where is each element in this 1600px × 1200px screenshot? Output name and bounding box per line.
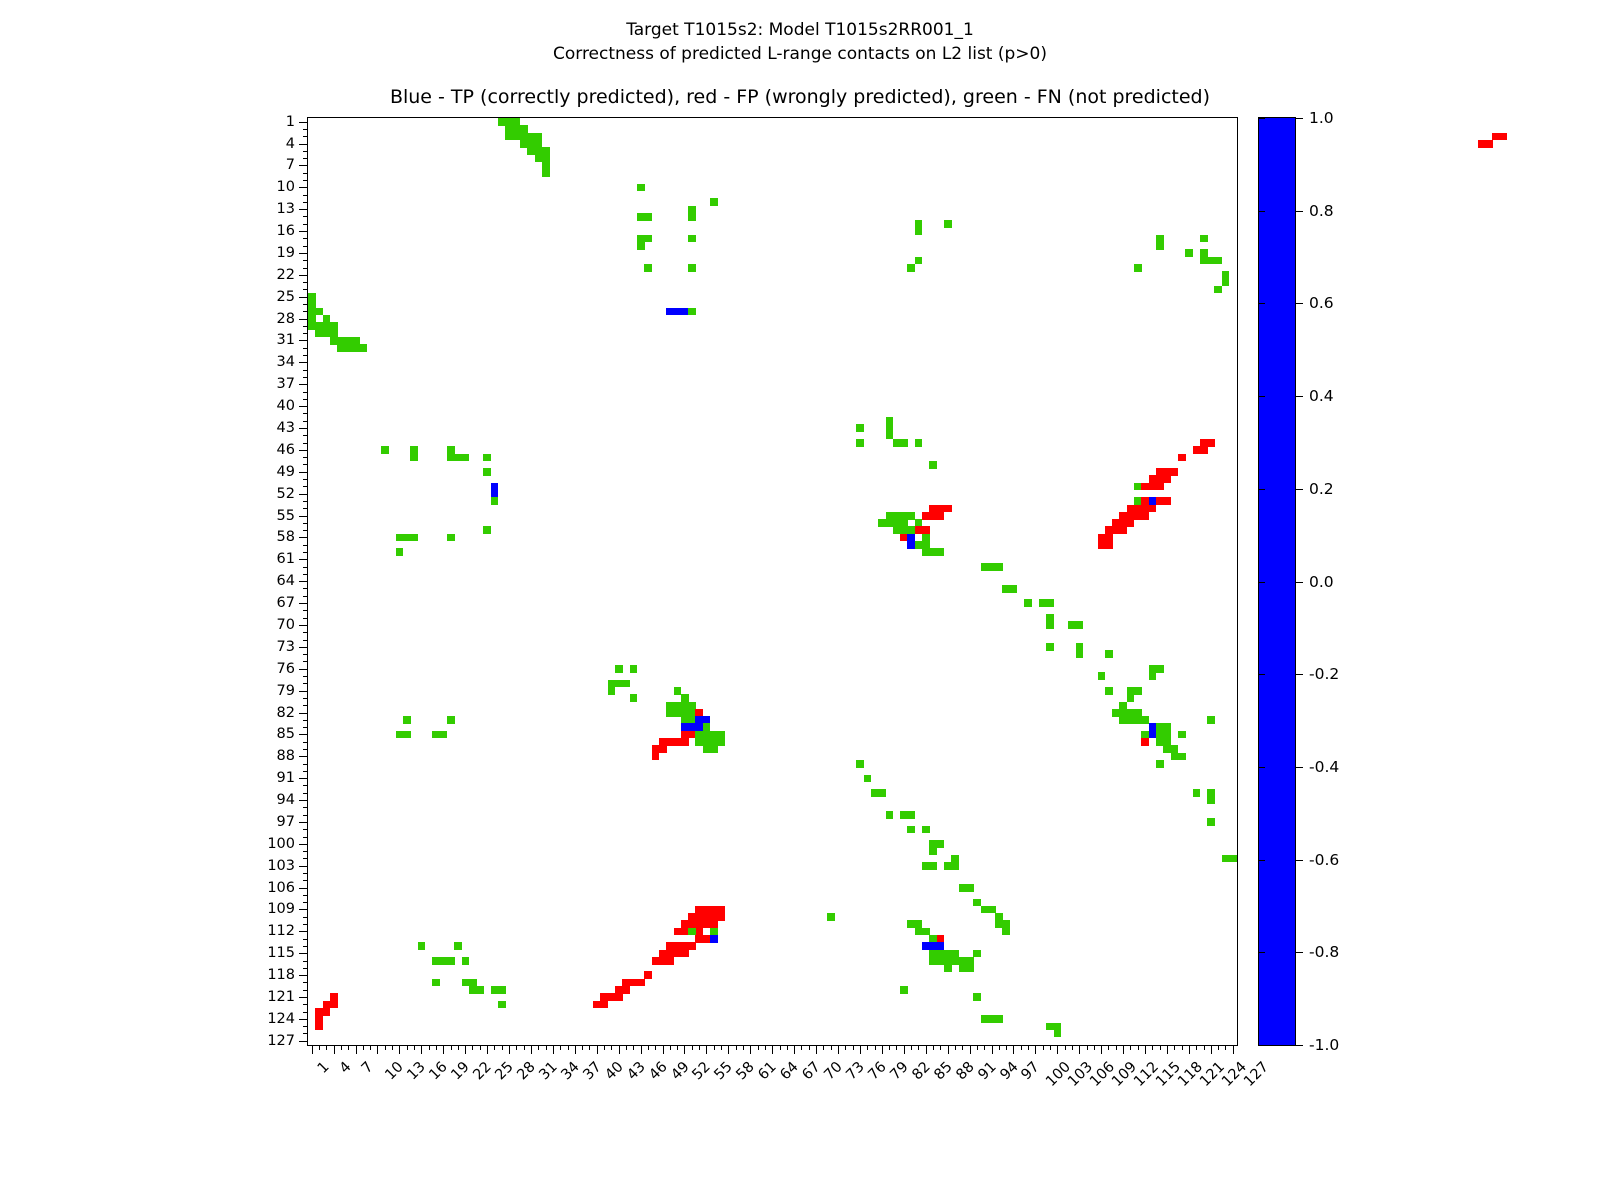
colorbar-tick-label: 1.0 (1309, 109, 1334, 127)
x-tick (882, 1045, 883, 1054)
y-tick-label: 115 (267, 945, 295, 961)
x-tick (1006, 1045, 1007, 1050)
contact-cell-tp (666, 308, 688, 316)
x-tick (831, 1045, 832, 1050)
x-tick (458, 1045, 459, 1050)
x-tick (1218, 1045, 1219, 1050)
contact-cell-fn (922, 548, 944, 556)
colorbar-tick (1295, 303, 1303, 304)
contact-cell-fn (637, 213, 652, 221)
x-tick (670, 1045, 671, 1050)
x-tick (1028, 1045, 1029, 1050)
contact-cell-fn (907, 264, 915, 272)
y-tick (303, 486, 308, 487)
y-tick (299, 909, 308, 910)
colorbar-tick (1295, 396, 1303, 397)
y-tick-label: 127 (267, 1033, 295, 1049)
x-tick (809, 1045, 810, 1050)
y-tick (299, 187, 308, 188)
y-tick (303, 464, 308, 465)
x-tick (312, 1045, 313, 1054)
y-tick (299, 669, 308, 670)
contact-map-plot-area[interactable]: 1471013161922252831343740434649525558616… (307, 117, 1238, 1046)
y-tick (299, 778, 308, 779)
y-tick (303, 289, 308, 290)
colorbar-tick (1295, 952, 1303, 953)
y-tick-label: 82 (277, 705, 295, 721)
contact-cell-fn (403, 716, 411, 724)
x-tick (780, 1045, 781, 1050)
x-tick (801, 1045, 802, 1050)
y-tick (299, 472, 308, 473)
colorbar-tick-label: -0.6 (1309, 851, 1339, 869)
contact-cell-fp (1178, 454, 1186, 462)
y-tick (303, 873, 308, 874)
y-tick (303, 939, 308, 940)
x-tick (933, 1045, 934, 1050)
x-tick (992, 1045, 993, 1054)
contact-cell-fn (915, 257, 923, 265)
x-tick (699, 1045, 700, 1050)
colorbar-tick (1295, 489, 1303, 490)
x-tick (765, 1045, 766, 1050)
contact-cell-fn (1024, 599, 1032, 607)
x-tick-label: 1 (314, 1059, 332, 1077)
y-tick-label: 13 (277, 201, 295, 217)
y-tick (299, 953, 308, 954)
y-tick (303, 610, 308, 611)
x-tick (575, 1045, 576, 1054)
x-tick (728, 1045, 729, 1054)
y-tick (303, 238, 308, 239)
x-tick-label: 40 (602, 1059, 626, 1083)
x-tick (326, 1045, 327, 1050)
x-tick (948, 1045, 949, 1054)
colorbar-tick-inner (1259, 211, 1265, 212)
y-tick (303, 567, 308, 568)
title-line-2: Correctness of predicted L-range contact… (0, 42, 1600, 66)
y-tick (299, 362, 308, 363)
y-tick-label: 97 (277, 814, 295, 830)
x-tick-label: 70 (821, 1059, 845, 1083)
x-tick (633, 1045, 634, 1050)
contact-cell-fn (1127, 694, 1135, 702)
x-tick (1101, 1045, 1102, 1054)
contact-cell-fn (491, 986, 506, 994)
x-tick (641, 1045, 642, 1054)
contact-cell-fn (1054, 1030, 1062, 1038)
contact-cell-fn (483, 526, 491, 534)
contact-cell-fn (498, 1001, 506, 1009)
y-tick-label: 22 (277, 267, 295, 283)
colorbar-tick (1295, 674, 1303, 675)
y-tick (303, 304, 308, 305)
colorbar-tick-label: -0.8 (1309, 943, 1339, 961)
x-tick (853, 1045, 854, 1050)
x-tick (502, 1045, 503, 1050)
y-tick (299, 888, 308, 889)
x-tick (553, 1045, 554, 1054)
contact-map-cells (308, 118, 1237, 1045)
x-tick-label: 82 (909, 1059, 933, 1083)
y-tick-label: 43 (277, 420, 295, 436)
figure-title-block: Target T1015s2: Model T1015s2RR001_1 Cor… (0, 18, 1600, 66)
x-tick (1160, 1045, 1161, 1050)
x-tick (334, 1045, 335, 1054)
x-tick-label: 88 (953, 1059, 977, 1083)
contact-cell-fn (1156, 760, 1164, 768)
contact-cell-fp (652, 957, 674, 965)
x-tick (684, 1045, 685, 1054)
x-tick-label: 127 (1241, 1059, 1272, 1090)
contact-cell-fn (688, 235, 696, 243)
y-tick (303, 545, 308, 546)
colorbar-tick (1295, 767, 1303, 768)
contact-cell-fn (710, 198, 718, 206)
y-tick-label: 31 (277, 332, 295, 348)
y-tick-label: 88 (277, 748, 295, 764)
y-tick (299, 537, 308, 538)
x-tick (429, 1045, 430, 1050)
x-tick (1050, 1045, 1051, 1050)
y-tick (303, 224, 308, 225)
contact-cell-fn (1207, 716, 1215, 724)
contact-cell-fn (922, 862, 937, 870)
y-tick (299, 384, 308, 385)
x-tick (414, 1045, 415, 1050)
contact-cell-fp (695, 935, 710, 943)
y-tick (303, 443, 308, 444)
x-tick (1065, 1045, 1066, 1050)
contact-cell-fn (308, 293, 316, 308)
y-tick-label: 61 (277, 551, 295, 567)
y-tick-label: 106 (267, 880, 295, 896)
x-tick (1087, 1045, 1088, 1050)
contact-cell-fn (337, 344, 367, 352)
colorbar-tick-inner (1259, 489, 1265, 490)
x-tick (480, 1045, 481, 1050)
contact-cell-fn (1193, 789, 1201, 797)
x-tick (341, 1045, 342, 1050)
y-tick-label: 49 (277, 464, 295, 480)
contact-cell-fp (1098, 541, 1113, 549)
y-tick-label: 52 (277, 486, 295, 502)
contact-cell-fn (1134, 264, 1142, 272)
y-tick (299, 756, 308, 757)
y-tick-label: 55 (277, 508, 295, 524)
x-tick-label: 67 (800, 1059, 824, 1083)
contact-cell-fn (396, 731, 411, 739)
x-tick (348, 1045, 349, 1050)
x-tick (758, 1045, 759, 1050)
contact-cell-fn (491, 497, 499, 505)
y-tick (299, 822, 308, 823)
contact-cell-fn (827, 913, 835, 921)
contact-cell-fp (922, 512, 944, 520)
contact-cell-fn (1149, 672, 1157, 680)
x-tick (516, 1045, 517, 1050)
x-tick (626, 1045, 627, 1050)
y-tick (303, 720, 308, 721)
x-tick (706, 1045, 707, 1054)
y-tick (299, 975, 308, 976)
y-tick (299, 450, 308, 451)
y-tick (299, 231, 308, 232)
x-tick-label: 37 (580, 1059, 604, 1083)
y-tick (303, 829, 308, 830)
contact-cell-fn (1105, 687, 1113, 695)
y-tick (303, 618, 308, 619)
contact-cell-fn (856, 760, 864, 768)
contact-cell-fn (1200, 235, 1208, 243)
x-tick (896, 1045, 897, 1050)
y-tick-label: 40 (277, 398, 295, 414)
contact-cell-fn (973, 950, 981, 958)
y-tick (303, 705, 308, 706)
contact-cell-fn (864, 775, 872, 783)
x-tick (721, 1045, 722, 1050)
y-tick (303, 596, 308, 597)
y-tick (303, 661, 308, 662)
contact-cell-fn (1171, 753, 1186, 761)
y-tick (303, 982, 308, 983)
y-tick-label: 91 (277, 770, 295, 786)
y-tick (299, 165, 308, 166)
x-tick (867, 1045, 868, 1050)
y-tick (299, 647, 308, 648)
y-tick (303, 742, 308, 743)
contact-cell-fn (959, 964, 974, 972)
x-tick-label: 25 (492, 1059, 516, 1083)
x-tick (999, 1045, 1000, 1050)
x-tick (860, 1045, 861, 1054)
x-tick (663, 1045, 664, 1054)
x-tick (772, 1045, 773, 1054)
x-tick-label: 31 (536, 1059, 560, 1083)
contact-cell-fn (432, 957, 454, 965)
y-tick-label: 121 (267, 989, 295, 1005)
colorbar-tick-label: 0.0 (1309, 573, 1334, 591)
contact-cell-fn (915, 439, 923, 447)
y-tick-label: 19 (277, 245, 295, 261)
y-tick-label: 73 (277, 639, 295, 655)
y-tick-label: 94 (277, 792, 295, 808)
contact-cell-fp (1478, 140, 1493, 148)
x-tick (955, 1045, 956, 1050)
contact-cell-fn (1214, 286, 1222, 294)
y-tick (303, 837, 308, 838)
contact-cell-fn (1156, 235, 1164, 250)
contact-cell-tp (491, 483, 499, 498)
y-tick-label: 7 (286, 157, 295, 173)
y-tick (303, 216, 308, 217)
x-tick (970, 1045, 971, 1054)
x-tick (568, 1045, 569, 1050)
contact-cell-fn (630, 694, 638, 702)
y-tick (303, 640, 308, 641)
x-tick (962, 1045, 963, 1050)
y-tick (303, 858, 308, 859)
y-tick-label: 28 (277, 311, 295, 327)
contact-cell-fn (856, 439, 864, 447)
colorbar-tick (1295, 582, 1303, 583)
x-tick (714, 1045, 715, 1050)
contact-cell-fn (615, 665, 623, 673)
colorbar-tick-label: -0.2 (1309, 665, 1339, 683)
y-tick (303, 435, 308, 436)
contact-cell-fn (615, 680, 630, 688)
y-tick (303, 501, 308, 502)
contact-cell-fn (900, 811, 915, 819)
x-tick (356, 1045, 357, 1054)
x-tick (1116, 1045, 1117, 1050)
x-tick-label: 76 (865, 1059, 889, 1083)
y-tick (303, 764, 308, 765)
colorbar-tick (1295, 860, 1303, 861)
y-tick (299, 122, 308, 123)
x-tick-label: 85 (931, 1059, 955, 1083)
contact-cell-fn (1222, 855, 1237, 863)
y-tick (303, 676, 308, 677)
x-tick (1108, 1045, 1109, 1050)
y-tick (299, 209, 308, 210)
y-tick (303, 1004, 308, 1005)
y-tick (299, 1019, 308, 1020)
contact-cell-fn (447, 716, 455, 724)
x-tick-label: 28 (514, 1059, 538, 1083)
x-tick (421, 1045, 422, 1054)
contact-cell-fn (856, 424, 864, 432)
contact-cell-fn (644, 235, 652, 243)
y-tick (303, 588, 308, 589)
y-tick (303, 552, 308, 553)
contact-cell-fn (878, 519, 893, 527)
contact-cell-fn (1098, 672, 1106, 680)
x-tick (611, 1045, 612, 1050)
y-tick-label: 64 (277, 573, 295, 589)
y-tick (303, 268, 308, 269)
contact-cell-fn (973, 993, 981, 1001)
y-tick (303, 260, 308, 261)
y-tick (303, 771, 308, 772)
x-tick (977, 1045, 978, 1050)
y-tick (303, 902, 308, 903)
contact-cell-fn (688, 308, 696, 316)
x-tick-label: 43 (624, 1059, 648, 1083)
y-tick (303, 1033, 308, 1034)
x-tick (546, 1045, 547, 1050)
title-line-1: Target T1015s2: Model T1015s2RR001_1 (0, 18, 1600, 42)
x-tick (655, 1045, 656, 1050)
x-tick (1021, 1045, 1022, 1050)
y-tick (299, 319, 308, 320)
x-tick (1152, 1045, 1153, 1050)
x-tick (1145, 1045, 1146, 1054)
y-tick (299, 866, 308, 867)
x-tick (1013, 1045, 1014, 1054)
contact-cell-fn (929, 461, 937, 469)
x-tick (472, 1045, 473, 1050)
x-tick (399, 1045, 400, 1054)
y-tick (303, 946, 308, 947)
contact-cell-tp (710, 935, 718, 943)
colorbar-tick-inner (1259, 767, 1265, 768)
x-tick (1138, 1045, 1139, 1050)
y-tick (303, 348, 308, 349)
x-tick (1043, 1045, 1044, 1050)
contact-cell-fn (981, 1015, 1003, 1023)
y-tick (299, 931, 308, 932)
contact-cell-fp (1193, 446, 1208, 454)
y-tick-label: 103 (267, 858, 295, 874)
contact-cell-fp (1492, 133, 1507, 141)
x-tick-label: 4 (336, 1059, 354, 1077)
contact-cell-fp (593, 1001, 608, 1009)
contact-cell-fn (1039, 599, 1054, 607)
colorbar-tick-label: 0.8 (1309, 202, 1334, 220)
x-tick (487, 1045, 488, 1054)
y-tick (303, 457, 308, 458)
y-tick (303, 180, 308, 181)
y-tick (303, 523, 308, 524)
y-tick (303, 815, 308, 816)
y-tick-label: 124 (267, 1011, 295, 1027)
x-tick (787, 1045, 788, 1050)
y-tick-label: 34 (277, 354, 295, 370)
contact-cell-fn (886, 811, 894, 819)
y-tick-label: 4 (286, 136, 295, 152)
contact-cell-fn (915, 220, 923, 235)
y-tick-label: 46 (277, 442, 295, 458)
y-tick (299, 800, 308, 801)
y-tick (299, 691, 308, 692)
y-tick (303, 421, 308, 422)
contact-cell-fn (893, 439, 908, 447)
contact-cell-fn (1222, 271, 1230, 286)
colorbar[interactable]: 1.00.80.60.40.20.0-0.2-0.4-0.6-0.8-1.0 (1258, 117, 1296, 1046)
x-tick (531, 1045, 532, 1054)
y-tick (303, 246, 308, 247)
contact-cell-fn (432, 731, 447, 739)
y-tick (303, 785, 308, 786)
y-tick (303, 508, 308, 509)
y-tick (299, 144, 308, 145)
y-tick (303, 851, 308, 852)
y-tick-label: 67 (277, 595, 295, 611)
y-tick (303, 1012, 308, 1013)
x-tick (392, 1045, 393, 1050)
y-tick (299, 428, 308, 429)
contact-cell-fn (1207, 818, 1215, 826)
x-tick (889, 1045, 890, 1050)
contact-cell-fn (1046, 614, 1054, 629)
colorbar-tick-label: -1.0 (1309, 1036, 1339, 1054)
x-tick (407, 1045, 408, 1050)
y-tick (303, 895, 308, 896)
y-tick (303, 136, 308, 137)
contact-cell-fp (1141, 483, 1163, 491)
x-tick (750, 1045, 751, 1054)
y-tick (299, 406, 308, 407)
x-tick-label: 73 (843, 1059, 867, 1083)
y-tick (303, 151, 308, 152)
y-tick-label: 16 (277, 223, 295, 239)
x-tick (385, 1045, 386, 1050)
contact-cell-fn (432, 979, 440, 987)
x-tick (823, 1045, 824, 1050)
y-tick (299, 997, 308, 998)
y-tick (303, 654, 308, 655)
